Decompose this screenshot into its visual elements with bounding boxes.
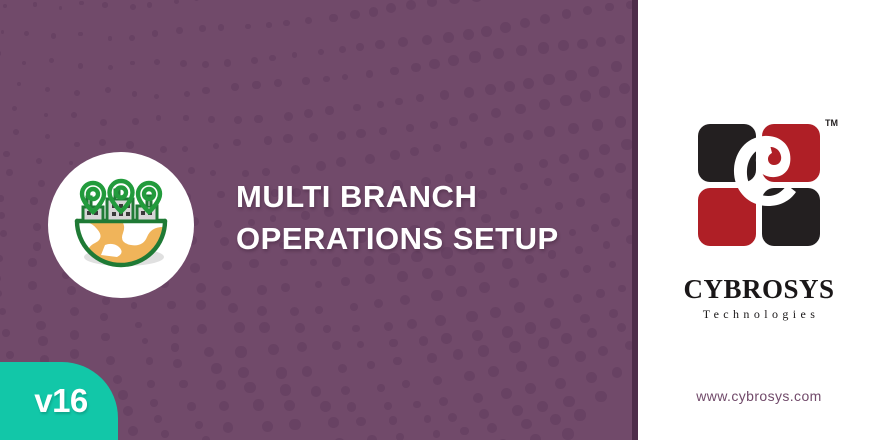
feature-icon-medallion <box>48 152 194 298</box>
right-white-panel: TM CYBROSYS Technologies www.cybrosys.co… <box>638 0 880 440</box>
banner-title: MULTI BRANCH OPERATIONS SETUP <box>236 176 626 260</box>
version-badge: v16 <box>0 362 118 440</box>
multi-branch-globe-icon <box>69 173 173 277</box>
website-url: www.cybrosys.com <box>638 388 880 404</box>
banner-title-line-1: MULTI BRANCH <box>236 176 626 218</box>
brand-tagline: Technologies <box>699 308 820 320</box>
brand-logo-block: TM CYBROSYS Technologies <box>674 118 844 320</box>
brand-name: CYBROSYS <box>683 276 834 303</box>
left-purple-panel: MULTI BRANCH OPERATIONS SETUP v16 <box>0 0 638 440</box>
banner-title-line-2: OPERATIONS SETUP <box>236 218 626 260</box>
product-banner: MULTI BRANCH OPERATIONS SETUP v16 TM <box>0 0 880 440</box>
trademark-symbol: TM <box>825 118 838 128</box>
version-badge-label: v16 <box>34 382 88 420</box>
cybrosys-c-logo: TM <box>686 118 832 270</box>
